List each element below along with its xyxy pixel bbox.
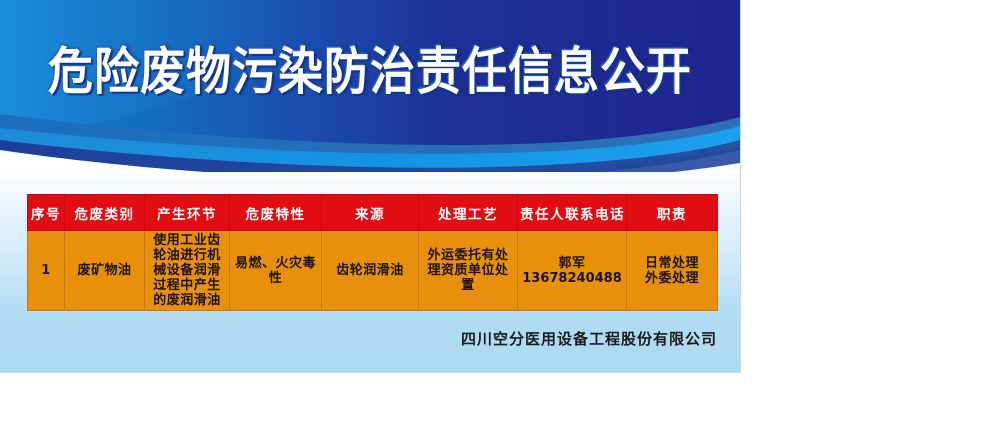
cell-contact: 郭军 13678240488: [518, 231, 627, 311]
cell-seq: 1: [28, 231, 65, 311]
hazardous-waste-table-wrapper: 序号 危废类别 产生环节 危废特性 来源 处理工艺 责任人联系电话 职责 1 废…: [27, 194, 717, 311]
column-header-contact: 责任人联系电话: [518, 195, 627, 231]
cell-source: 齿轮润滑油: [322, 231, 419, 311]
column-header-treatment: 处理工艺: [419, 195, 518, 231]
cell-property: 易燃、火灾毒性: [230, 231, 322, 311]
column-header-category: 危废类别: [65, 195, 145, 231]
banner-wave-graphic: [0, 0, 740, 172]
duty-line-1: 日常处理: [631, 256, 713, 271]
table-row: 1 废矿物油 使用工业齿轮油进行机械设备润滑过程中产生的废润滑油 易燃、火灾毒性…: [28, 231, 718, 311]
cell-category: 废矿物油: [65, 231, 145, 311]
table-header-row: 序号 危废类别 产生环节 危废特性 来源 处理工艺 责任人联系电话 职责: [28, 195, 718, 231]
cell-duty: 日常处理 外委处理: [627, 231, 718, 311]
contact-person-name: 郭军: [522, 256, 622, 271]
contact-phone-number: 13678240488: [522, 271, 622, 286]
column-header-property: 危废特性: [230, 195, 322, 231]
column-header-stage: 产生环节: [145, 195, 230, 231]
company-name: 四川空分医用设备工程股份有限公司: [0, 328, 717, 349]
cell-stage: 使用工业齿轮油进行机械设备润滑过程中产生的废润滑油: [145, 231, 230, 311]
banner-header: 危险废物污染防治责任信息公开: [0, 0, 740, 172]
column-header-duty: 职责: [627, 195, 718, 231]
hazardous-waste-table: 序号 危废类别 产生环节 危废特性 来源 处理工艺 责任人联系电话 职责 1 废…: [27, 194, 718, 311]
banner-background: [0, 0, 740, 172]
duty-line-2: 外委处理: [631, 271, 713, 286]
column-header-seq: 序号: [28, 195, 65, 231]
column-header-source: 来源: [322, 195, 419, 231]
poster-board: 危险废物污染防治责任信息公开 序号 危废类别 产生环节 危废特性 来源 处理工艺…: [0, 0, 740, 372]
cell-treatment: 外运委托有处理资质单位处置: [419, 231, 518, 311]
